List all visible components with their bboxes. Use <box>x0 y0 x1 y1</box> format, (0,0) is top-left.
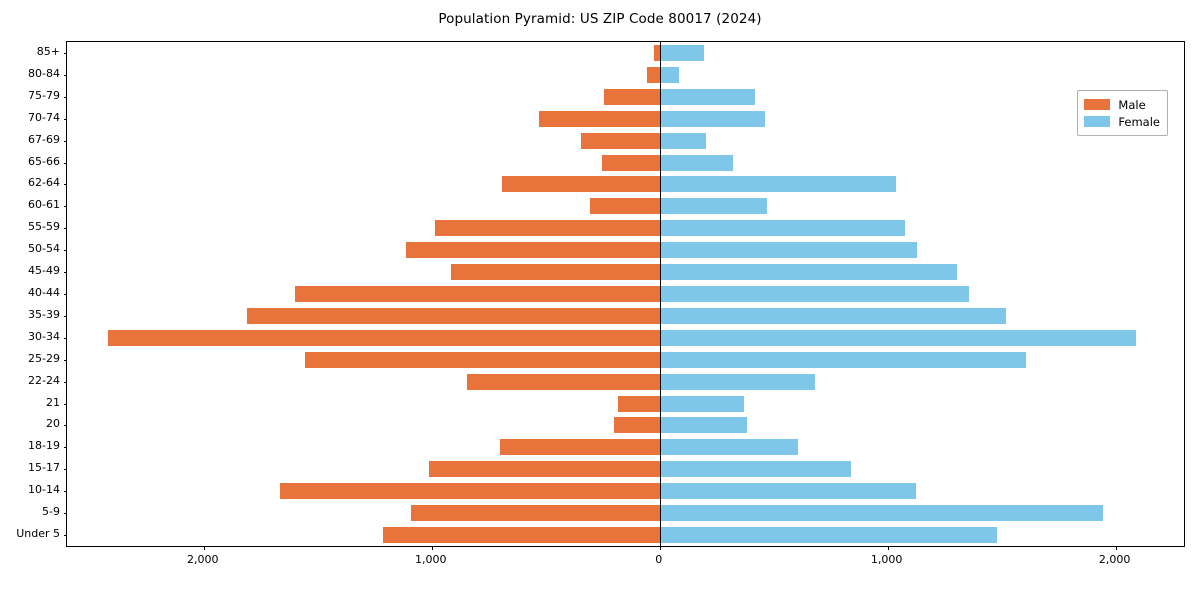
y-tick-mark <box>64 184 68 185</box>
bar-female-5-9 <box>660 505 1103 521</box>
y-tick-mark <box>64 250 68 251</box>
bar-female-80-84 <box>660 67 679 83</box>
bar-female-70-74 <box>660 111 765 127</box>
bar-male-80-84 <box>647 67 660 83</box>
chart-legend[interactable]: MaleFemale <box>1077 90 1168 136</box>
bar-male-21 <box>618 396 660 412</box>
y-tick-label-20: 20 <box>0 417 60 430</box>
y-tick-label-60-61: 60-61 <box>0 198 60 211</box>
bar-male-under-5 <box>383 527 660 543</box>
y-tick-label-22-24: 22-24 <box>0 374 60 387</box>
bar-female-65-66 <box>660 155 733 171</box>
y-tick-mark <box>64 425 68 426</box>
y-tick-label-50-54: 50-54 <box>0 242 60 255</box>
y-tick-mark <box>64 53 68 54</box>
legend-label-female: Female <box>1118 115 1160 129</box>
plot-inner <box>67 42 1184 546</box>
y-tick-label-18-19: 18-19 <box>0 439 60 452</box>
bar-male-60-61 <box>590 198 660 214</box>
bar-male-40-44 <box>295 286 660 302</box>
y-tick-label-65-66: 65-66 <box>0 155 60 168</box>
y-tick-mark <box>64 360 68 361</box>
bar-female-10-14 <box>660 483 916 499</box>
y-tick-mark <box>64 382 68 383</box>
y-tick-label-under-5: Under 5 <box>0 527 60 540</box>
x-tick-mark <box>1116 546 1117 550</box>
bar-male-30-34 <box>108 330 660 346</box>
bar-male-10-14 <box>280 483 660 499</box>
bar-male-50-54 <box>406 242 660 258</box>
bar-male-5-9 <box>411 505 659 521</box>
x-tick-mark <box>888 546 889 550</box>
y-tick-label-55-59: 55-59 <box>0 220 60 233</box>
bar-male-35-39 <box>247 308 660 324</box>
y-tick-label-62-64: 62-64 <box>0 176 60 189</box>
y-tick-label-30-34: 30-34 <box>0 330 60 343</box>
y-tick-mark <box>64 447 68 448</box>
bar-male-22-24 <box>467 374 660 390</box>
legend-swatch-female <box>1084 116 1110 127</box>
y-tick-mark <box>64 141 68 142</box>
bar-female-15-17 <box>660 461 851 477</box>
y-tick-mark <box>64 97 68 98</box>
y-tick-mark <box>64 491 68 492</box>
bar-male-18-19 <box>500 439 660 455</box>
bar-female-25-29 <box>660 352 1026 368</box>
bar-female-22-24 <box>660 374 815 390</box>
y-tick-mark <box>64 535 68 536</box>
bar-female-67-69 <box>660 133 707 149</box>
y-tick-label-10-14: 10-14 <box>0 483 60 496</box>
y-tick-mark <box>64 75 68 76</box>
bar-male-20 <box>614 417 660 433</box>
x-tick-label: 0 <box>624 553 694 566</box>
bar-male-65-66 <box>602 155 660 171</box>
bar-male-55-59 <box>435 220 660 236</box>
legend-item-female[interactable]: Female <box>1084 113 1160 130</box>
y-tick-label-5-9: 5-9 <box>0 505 60 518</box>
bar-male-45-49 <box>451 264 660 280</box>
x-tick-mark <box>660 546 661 550</box>
y-tick-label-25-29: 25-29 <box>0 352 60 365</box>
bar-female-18-19 <box>660 439 798 455</box>
y-tick-label-75-79: 75-79 <box>0 89 60 102</box>
plot-area: MaleFemale <box>66 41 1185 547</box>
y-tick-mark <box>64 338 68 339</box>
zero-axis-line <box>660 42 661 546</box>
y-tick-mark <box>64 294 68 295</box>
y-tick-label-15-17: 15-17 <box>0 461 60 474</box>
y-tick-label-70-74: 70-74 <box>0 111 60 124</box>
bar-female-75-79 <box>660 89 756 105</box>
y-tick-mark <box>64 272 68 273</box>
bar-female-under-5 <box>660 527 997 543</box>
y-tick-mark <box>64 228 68 229</box>
y-tick-label-67-69: 67-69 <box>0 133 60 146</box>
bar-male-62-64 <box>502 176 659 192</box>
bar-female-35-39 <box>660 308 1006 324</box>
bar-female-20 <box>660 417 748 433</box>
bar-female-55-59 <box>660 220 905 236</box>
bar-female-21 <box>660 396 744 412</box>
bar-female-85- <box>660 45 704 61</box>
y-tick-label-40-44: 40-44 <box>0 286 60 299</box>
bar-male-67-69 <box>581 133 660 149</box>
bar-female-60-61 <box>660 198 767 214</box>
y-tick-label-85-: 85+ <box>0 45 60 58</box>
bar-female-50-54 <box>660 242 918 258</box>
bar-female-62-64 <box>660 176 896 192</box>
legend-swatch-male <box>1084 99 1110 110</box>
bar-female-30-34 <box>660 330 1136 346</box>
x-tick-mark <box>432 546 433 550</box>
y-tick-mark <box>64 119 68 120</box>
y-tick-mark <box>64 206 68 207</box>
bar-male-25-29 <box>305 352 659 368</box>
y-tick-label-35-39: 35-39 <box>0 308 60 321</box>
x-tick-label: 2,000 <box>1080 553 1150 566</box>
population-pyramid-figure: Population Pyramid: US ZIP Code 80017 (2… <box>0 0 1200 600</box>
x-tick-label: 2,000 <box>168 553 238 566</box>
y-tick-mark <box>64 163 68 164</box>
chart-title: Population Pyramid: US ZIP Code 80017 (2… <box>0 11 1200 27</box>
x-tick-label: 1,000 <box>396 553 466 566</box>
bar-male-75-79 <box>604 89 660 105</box>
legend-item-male[interactable]: Male <box>1084 96 1160 113</box>
bar-female-45-49 <box>660 264 957 280</box>
x-tick-label: 1,000 <box>852 553 922 566</box>
bar-female-40-44 <box>660 286 969 302</box>
y-tick-mark <box>64 316 68 317</box>
legend-label-male: Male <box>1118 98 1145 112</box>
y-tick-label-80-84: 80-84 <box>0 67 60 80</box>
y-tick-mark <box>64 469 68 470</box>
y-tick-label-45-49: 45-49 <box>0 264 60 277</box>
x-tick-mark <box>204 546 205 550</box>
y-tick-mark <box>64 404 68 405</box>
bar-male-15-17 <box>429 461 659 477</box>
bar-male-70-74 <box>539 111 660 127</box>
y-tick-mark <box>64 513 68 514</box>
y-tick-label-21: 21 <box>0 396 60 409</box>
